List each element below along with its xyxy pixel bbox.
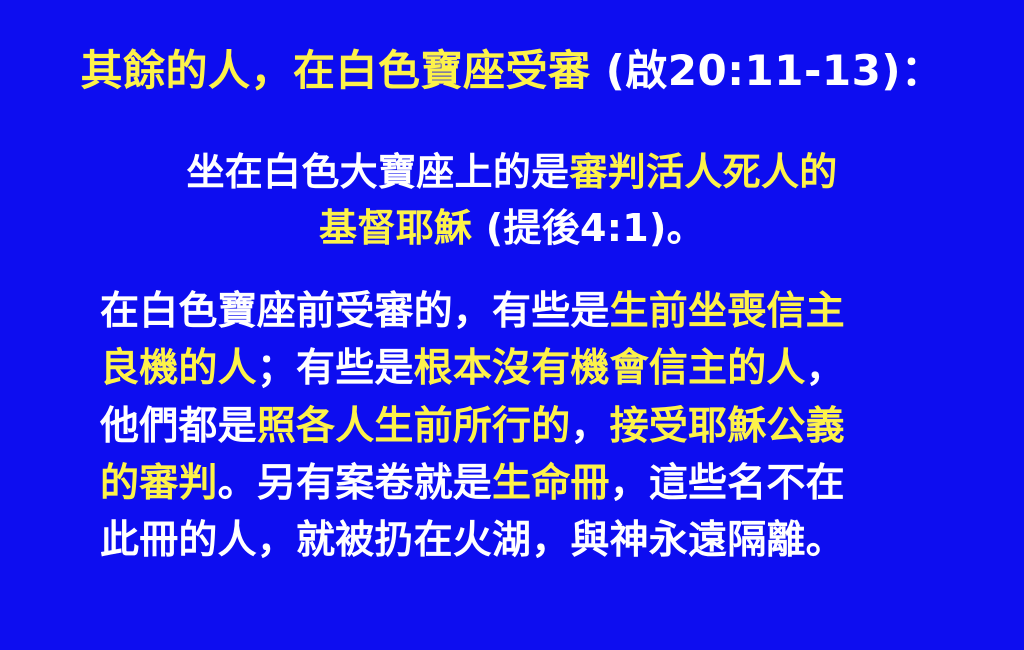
slide-heading-segment-1: (啟20:11-13)：: [590, 46, 943, 95]
body-paragraph-line-1-segment-3: ，: [806, 346, 845, 391]
body-paragraph-line-4-segment-0: 此冊的人，就被扔在火湖，與神永遠隔離。: [100, 518, 845, 563]
slide-heading-segment-0: 其餘的人，在白色寶座受審: [80, 46, 590, 95]
body-paragraph-line-3-segment-0: 的審判: [100, 461, 218, 506]
scripture-quote-block-line-0-segment-0: 坐在白色大寶座上的是: [186, 150, 569, 194]
body-paragraph-line-1-segment-0: 良機的人: [100, 346, 257, 391]
body-paragraph-line-0-segment-1: 生前坐喪信主: [610, 289, 845, 334]
body-paragraph-line-0: 在白色寶座前受審的，有些是生前坐喪信主: [100, 283, 932, 340]
body-paragraph-line-0-segment-0: 在白色寶座前受審的，有些是: [100, 289, 610, 334]
body-paragraph-line-2: 他們都是照各人生前所行的，接受耶穌公義: [100, 398, 932, 455]
scripture-quote-block-line-0: 坐在白色大寶座上的是審判活人死人的: [0, 144, 1024, 200]
scripture-quote-block-line-0-segment-1: 審判活人死人的: [569, 150, 837, 194]
body-paragraph-line-1: 良機的人；有些是根本沒有機會信主的人，: [100, 340, 932, 397]
body-paragraph: 在白色寶座前受審的，有些是生前坐喪信主良機的人；有些是根本沒有機會信主的人，他們…: [100, 283, 932, 570]
slide-canvas: 其餘的人，在白色寶座受審 (啟20:11-13)： 坐在白色大寶座上的是審判活人…: [0, 0, 1024, 650]
body-paragraph-line-3-segment-2: 生命冊: [492, 461, 610, 506]
scripture-quote-block-line-1: 基督耶穌 (提後4:1)。: [0, 200, 1024, 256]
body-paragraph-line-2-segment-3: 接受耶穌公義: [610, 404, 845, 449]
scripture-quote-block-line-1-segment-1: (提後4:1)。: [472, 206, 705, 250]
body-paragraph-line-3: 的審判。另有案卷就是生命冊，這些名不在: [100, 455, 932, 512]
slide-heading: 其餘的人，在白色寶座受審 (啟20:11-13)：: [0, 46, 1024, 96]
body-paragraph-line-1-segment-1: ；有些是: [257, 346, 414, 391]
scripture-quote-block: 坐在白色大寶座上的是審判活人死人的基督耶穌 (提後4:1)。: [0, 144, 1024, 256]
body-paragraph-line-3-segment-3: ，這些名不在: [610, 461, 845, 506]
body-paragraph-line-2-segment-2: ，: [570, 404, 609, 449]
body-paragraph-line-4: 此冊的人，就被扔在火湖，與神永遠隔離。: [100, 512, 932, 569]
scripture-quote-block-line-1-segment-0: 基督耶穌: [319, 206, 472, 250]
body-paragraph-line-2-segment-1: 照各人生前所行的: [257, 404, 571, 449]
body-paragraph-line-1-segment-2: 根本沒有機會信主的人: [414, 346, 806, 391]
body-paragraph-line-3-segment-1: 。另有案卷就是: [218, 461, 492, 506]
body-paragraph-line-2-segment-0: 他們都是: [100, 404, 257, 449]
